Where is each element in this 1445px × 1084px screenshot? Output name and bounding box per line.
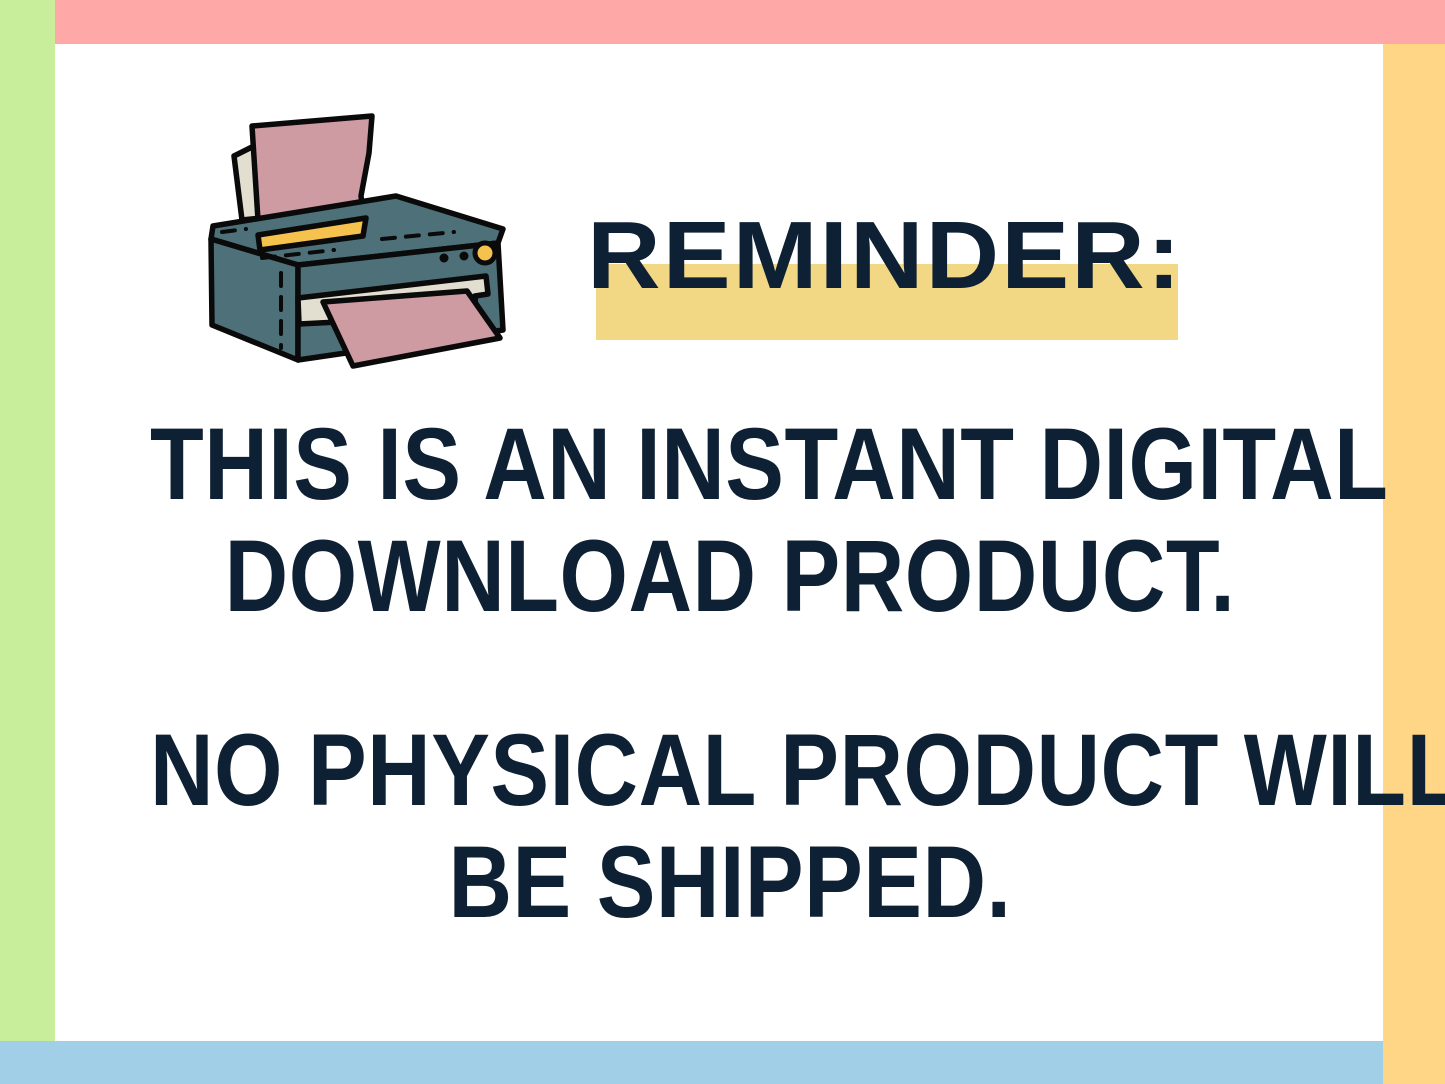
body-line-4: BE SHIPPED. bbox=[150, 817, 1310, 947]
paragraph-spacer bbox=[150, 632, 1310, 714]
printer-illustration bbox=[186, 98, 536, 388]
right-orange-bar bbox=[1383, 44, 1445, 1084]
bottom-blue-bar bbox=[0, 1041, 1383, 1084]
page-title: REMINDER: bbox=[541, 196, 1230, 316]
top-pink-bar bbox=[55, 0, 1445, 44]
printer-indicator-dot-1 bbox=[440, 254, 449, 263]
body-copy-block: THIS IS AN INSTANT DIGITAL DOWNLOAD PROD… bbox=[150, 408, 1310, 938]
printer-output-paper bbox=[323, 291, 500, 366]
heading-block: REMINDER: bbox=[560, 196, 1210, 346]
body-line-2: DOWNLOAD PRODUCT. bbox=[150, 511, 1310, 641]
body-line-3: NO PHYSICAL PRODUCT WILL bbox=[150, 705, 1310, 835]
reminder-graphic-canvas: REMINDER: THIS IS AN INSTANT DIGITAL DOW… bbox=[0, 0, 1445, 1084]
printer-indicator-dot-2 bbox=[460, 252, 469, 261]
left-green-bar bbox=[0, 0, 55, 1041]
body-line-1: THIS IS AN INSTANT DIGITAL bbox=[150, 399, 1310, 529]
printer-power-button bbox=[475, 243, 495, 263]
